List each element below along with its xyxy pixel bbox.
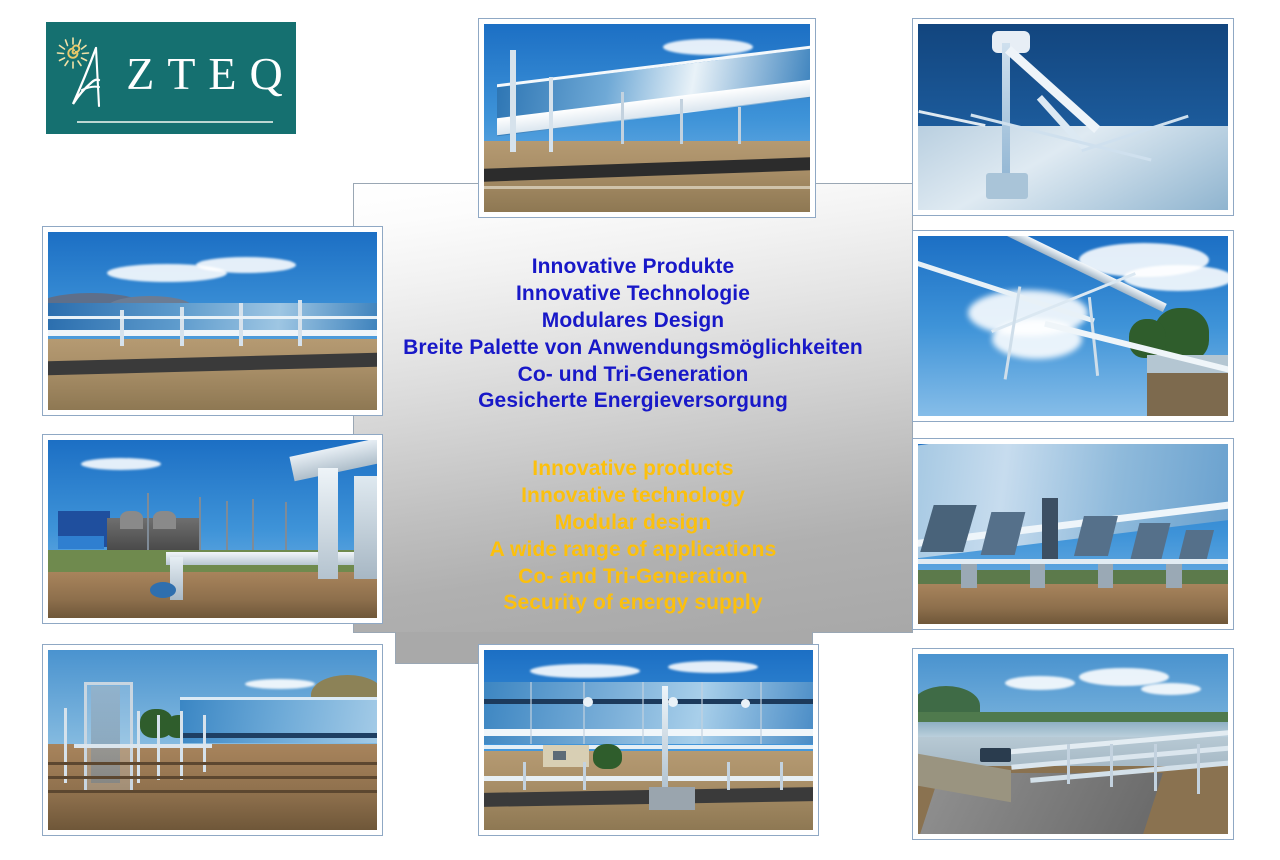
center-message-panel: Innovative Produkte Innovative Technolog… bbox=[353, 183, 913, 633]
photo-right-middle bbox=[912, 438, 1234, 630]
photo-left-lower bbox=[42, 644, 383, 836]
logo-row: ZTEQ bbox=[46, 34, 296, 114]
photo-right-upper bbox=[912, 230, 1234, 422]
photo-right-middle-image bbox=[918, 444, 1228, 624]
photo-left-upper-image bbox=[48, 232, 377, 410]
german-line-4: Breite Palette von Anwendungsmöglichkeit… bbox=[354, 335, 912, 362]
slide-canvas: ZTEQ Innovative Produkte Innovative Tech… bbox=[0, 0, 1280, 860]
photo-left-middle bbox=[42, 434, 383, 624]
photo-bottom-center-image bbox=[484, 650, 813, 830]
german-line-1: Innovative Produkte bbox=[354, 254, 912, 281]
photo-right-upper-image bbox=[918, 236, 1228, 416]
german-line-5: Co- und Tri-Generation bbox=[354, 362, 912, 389]
german-line-6: Gesicherte Energieversorgung bbox=[354, 388, 912, 415]
logo-underline bbox=[77, 121, 273, 123]
sun-spiral-icon bbox=[56, 34, 118, 114]
photo-top-right-image bbox=[918, 24, 1228, 210]
azteq-logo: ZTEQ bbox=[46, 22, 296, 134]
photo-top-right bbox=[912, 18, 1234, 216]
german-line-3: Modulares Design bbox=[354, 308, 912, 335]
english-line-6: Security of energy supply bbox=[354, 590, 912, 617]
photo-left-middle-image bbox=[48, 440, 377, 618]
german-line-2: Innovative Technologie bbox=[354, 281, 912, 308]
photo-left-lower-image bbox=[48, 650, 377, 830]
english-line-2: Innovative technology bbox=[354, 483, 912, 510]
photo-bottom-center bbox=[478, 644, 819, 836]
english-line-5: Co- and Tri-Generation bbox=[354, 564, 912, 591]
photo-left-upper bbox=[42, 226, 383, 416]
photo-top-center-image bbox=[484, 24, 810, 212]
german-message-block: Innovative Produkte Innovative Technolog… bbox=[354, 254, 912, 415]
photo-right-lower-image bbox=[918, 654, 1228, 834]
english-line-3: Modular design bbox=[354, 510, 912, 537]
photo-top-center bbox=[478, 18, 816, 218]
english-line-4: A wide range of applications bbox=[354, 537, 912, 564]
english-line-1: Innovative products bbox=[354, 456, 912, 483]
logo-wordmark: ZTEQ bbox=[122, 51, 296, 97]
photo-right-lower bbox=[912, 648, 1234, 840]
english-message-block: Innovative products Innovative technolog… bbox=[354, 456, 912, 617]
